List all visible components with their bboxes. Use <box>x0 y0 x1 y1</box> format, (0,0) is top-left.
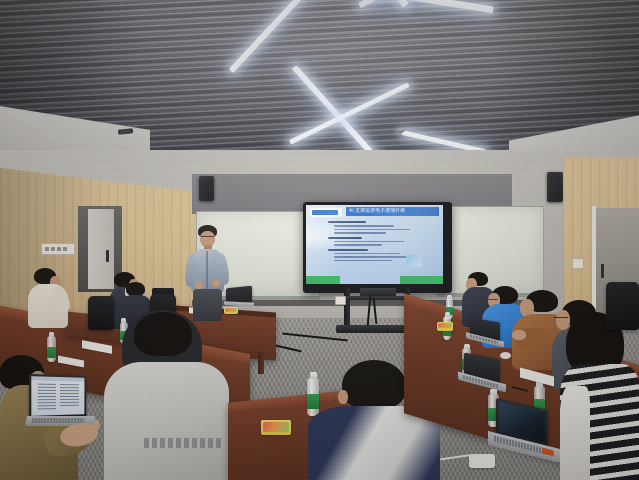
bottle-cap <box>447 295 452 299</box>
fruit-pieces <box>263 422 289 432</box>
presenter-hand <box>195 281 203 289</box>
presenter-shirt-placket <box>206 251 208 289</box>
attendee-left-back <box>26 268 70 328</box>
smoke-detector-icon <box>396 128 405 133</box>
presenter-glasses-icon <box>201 236 214 239</box>
presenter <box>186 225 230 320</box>
attendee-glasses-icon <box>487 299 498 302</box>
laptop-sticker <box>542 447 554 456</box>
wall-plate-right[interactable] <box>572 258 584 269</box>
snack-box <box>261 420 291 435</box>
light-switch-panel[interactable] <box>41 243 75 255</box>
av-receiver-box <box>360 288 396 296</box>
fruit-pieces <box>438 323 452 328</box>
power-adapter <box>469 454 495 468</box>
slide-screen: AI 支撑需要电子玻璃纤维 <box>306 205 443 284</box>
attendee-hair <box>342 360 406 410</box>
wall-speaker-left <box>199 176 214 201</box>
tv-stand-shelf <box>342 296 412 300</box>
presenter-hand <box>212 279 220 287</box>
bottle-cap <box>464 344 470 349</box>
switch-key <box>51 247 55 251</box>
conference-room-photo: AI 支撑需要电子玻璃纤维 <box>0 0 639 480</box>
attendee-laptop-screen[interactable] <box>29 374 86 418</box>
bottle-cap <box>445 312 450 317</box>
presentation-display: AI 支撑需要电子玻璃纤维 <box>303 202 452 293</box>
bottle-cap <box>49 332 54 337</box>
attendee-left-hoodie <box>104 310 229 480</box>
switch-key <box>63 247 67 251</box>
laptop-keyboard[interactable] <box>32 418 85 423</box>
snack-box <box>437 322 453 331</box>
wall-speaker-right <box>547 172 563 202</box>
table-leg <box>258 352 264 374</box>
office-chair[interactable] <box>606 282 639 330</box>
switch-key <box>57 247 61 251</box>
attendee-clothing <box>104 362 229 480</box>
hoodie-print-text <box>144 438 222 448</box>
doc-text-block <box>38 384 56 411</box>
tv-stand-post <box>344 287 350 328</box>
wall-outlet[interactable] <box>335 296 346 305</box>
attendee-right-striped <box>560 312 639 480</box>
screen-glare <box>306 205 443 284</box>
doc-toolbar <box>31 376 84 381</box>
switch-key <box>45 247 49 251</box>
attendee-ear <box>338 390 348 404</box>
doc-text-block <box>60 384 79 406</box>
mouse-icon[interactable] <box>500 352 511 359</box>
attendee-hand <box>512 330 526 340</box>
attendee-sleeve <box>560 386 590 480</box>
door-handle-icon[interactable] <box>106 250 109 262</box>
attendee-hair <box>134 312 192 356</box>
door-handle-icon[interactable] <box>601 264 604 278</box>
attendee-hair <box>126 282 145 296</box>
laptop-document-view <box>31 376 84 416</box>
